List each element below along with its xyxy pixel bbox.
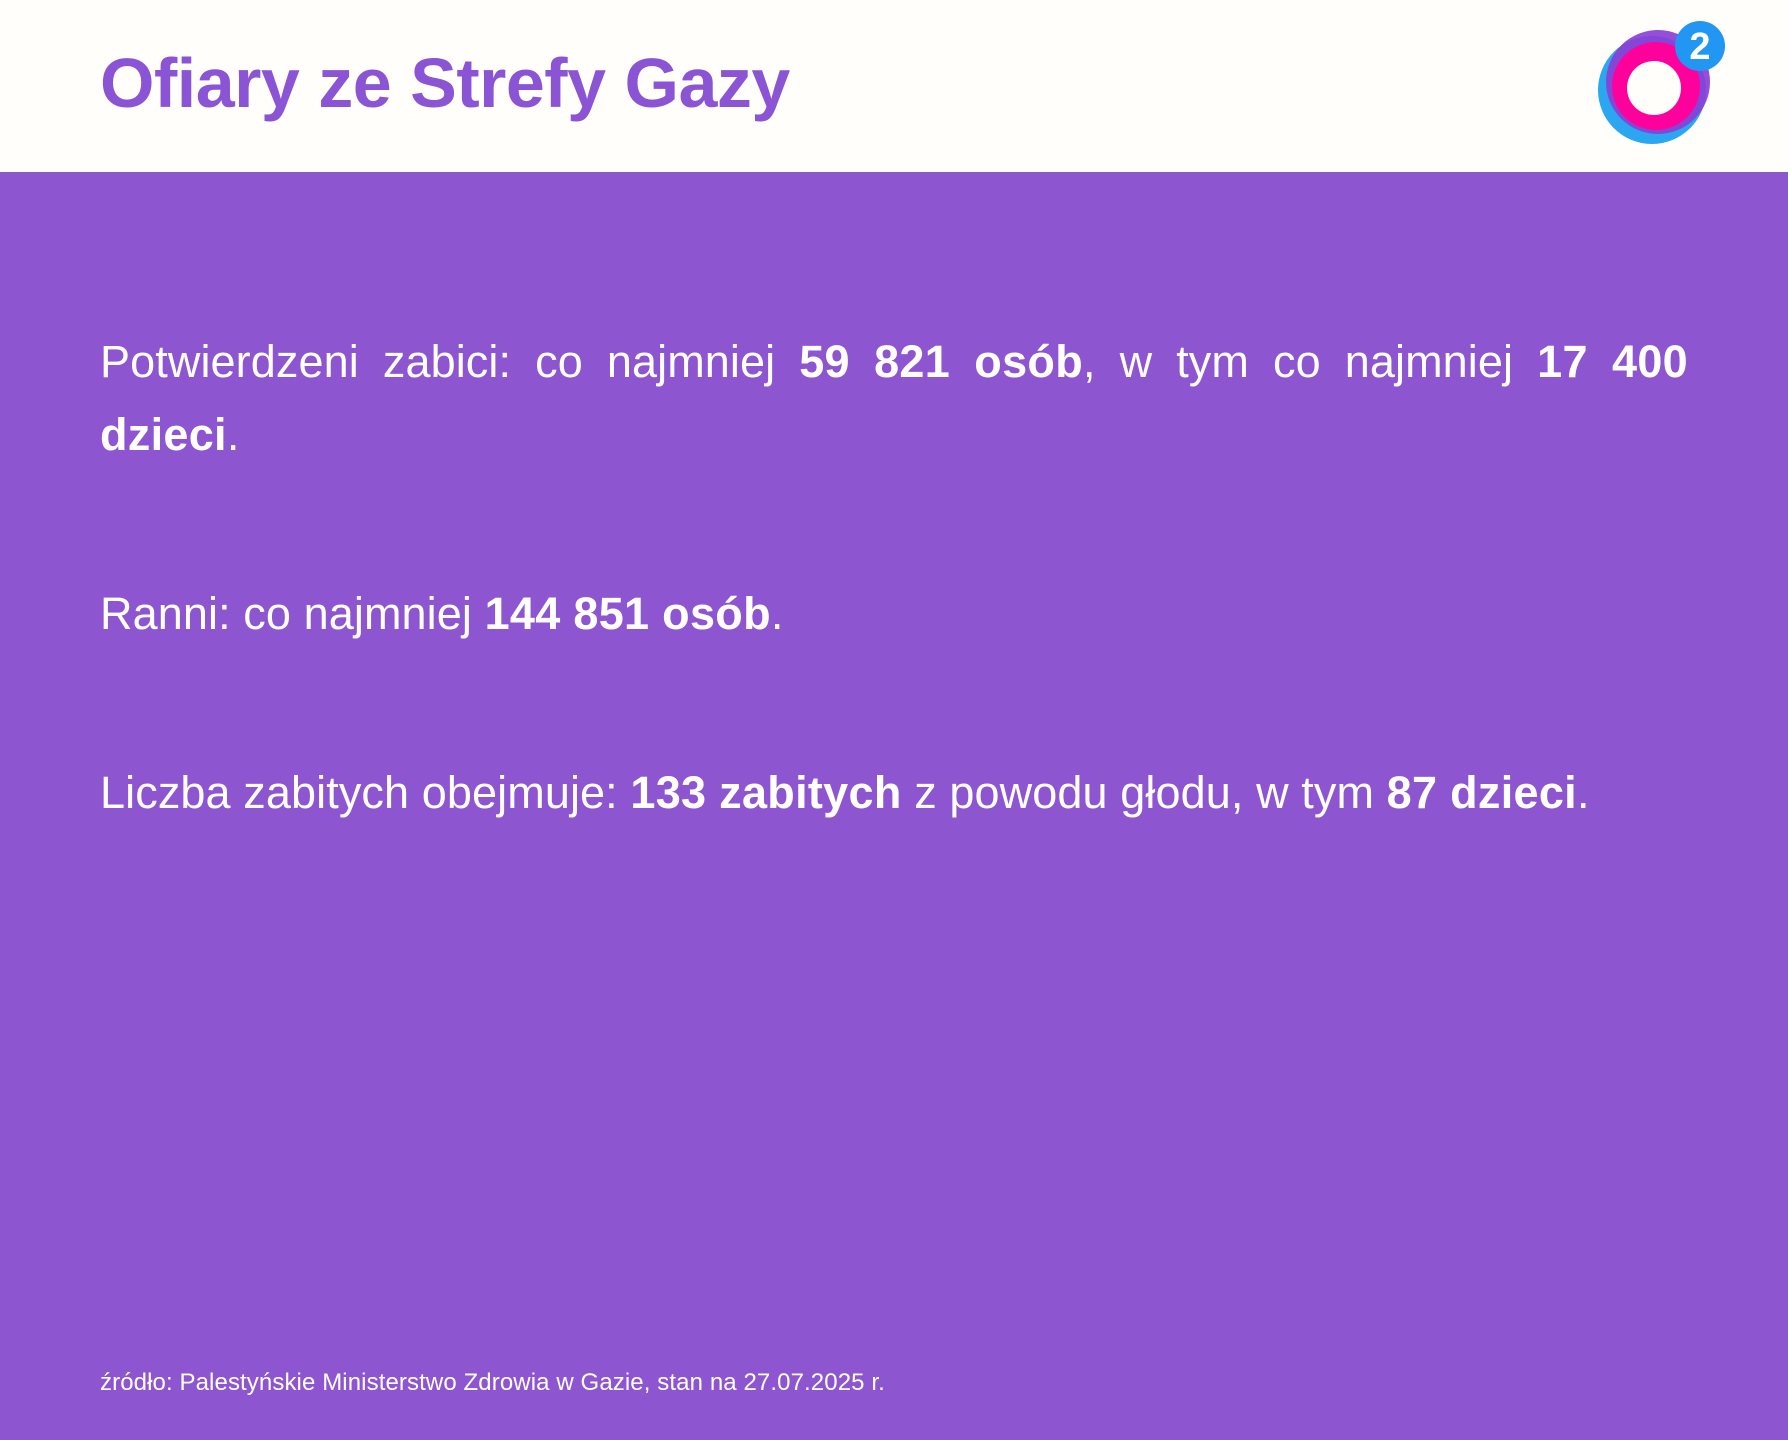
stat-suffix: .	[1577, 767, 1590, 818]
o2-logo-icon: 2	[1592, 18, 1728, 154]
stat-value-secondary: 87 dzieci	[1387, 767, 1577, 818]
header-bar: Ofiary ze Strefy Gazy 2	[0, 0, 1788, 172]
stat-value-primary: 59 821 osób	[799, 336, 1083, 387]
stat-value-primary: 133 zabitych	[630, 767, 901, 818]
statistics-list: Potwierdzeni zabici: co najmniej 59 821 …	[100, 326, 1688, 830]
logo-badge-text: 2	[1689, 26, 1710, 68]
stat-prefix: Potwierdzeni zabici: co najmniej	[100, 336, 799, 387]
stat-prefix: Liczba zabitych obejmuje:	[100, 767, 630, 818]
source-note: źródło: Palestyńskie Ministerstwo Zdrowi…	[100, 1367, 1688, 1398]
infographic-card: Ofiary ze Strefy Gazy 2 Potwierdzeni z	[0, 0, 1788, 1440]
stat-starvation-deaths: Liczba zabitych obejmuje: 133 zabitych z…	[100, 757, 1688, 830]
page-title: Ofiary ze Strefy Gazy	[100, 48, 790, 118]
stat-prefix: Ranni: co najmniej	[100, 588, 485, 639]
stat-middle: z powodu głodu, w tym	[902, 767, 1387, 818]
o2-logo: 2	[1592, 18, 1728, 154]
stat-suffix: .	[771, 588, 784, 639]
stat-confirmed-killed: Potwierdzeni zabici: co najmniej 59 821 …	[100, 326, 1688, 472]
stat-middle: , w tym co najmniej	[1083, 336, 1537, 387]
stat-wounded: Ranni: co najmniej 144 851 osób.	[100, 578, 1688, 651]
content-area: Potwierdzeni zabici: co najmniej 59 821 …	[0, 172, 1788, 1440]
stat-suffix: .	[227, 409, 240, 460]
stat-value-primary: 144 851 osób	[485, 588, 771, 639]
